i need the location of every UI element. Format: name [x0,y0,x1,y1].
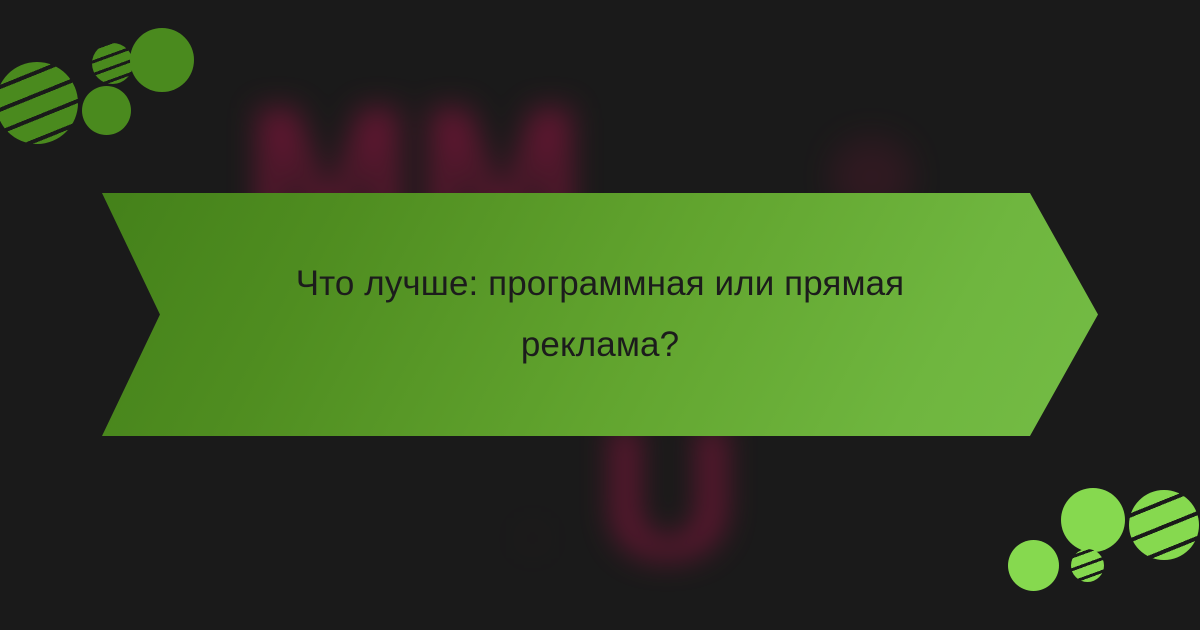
decor-circle-striped-small-bottomright [1071,549,1104,582]
decor-circle-plain-large-topleft [130,28,194,92]
background-glyph-4: . [520,470,545,560]
decor-circle-plain-medium-topleft [82,86,131,135]
page-title: Что лучше: программная или прямая реклам… [102,254,1098,374]
poster-canvas: MM U o . Что лучше: программная или прям… [0,0,1200,630]
decor-circle-plain-medium-bottomright [1061,488,1125,552]
headline-banner: Что лучше: программная или прямая реклам… [102,193,1098,436]
decor-circle-plain-small-bottomright [1008,540,1059,591]
decor-circle-striped-large-topleft [0,62,78,144]
decor-circle-striped-small-topleft [92,43,133,84]
decor-circle-striped-large-bottomright [1129,490,1199,560]
